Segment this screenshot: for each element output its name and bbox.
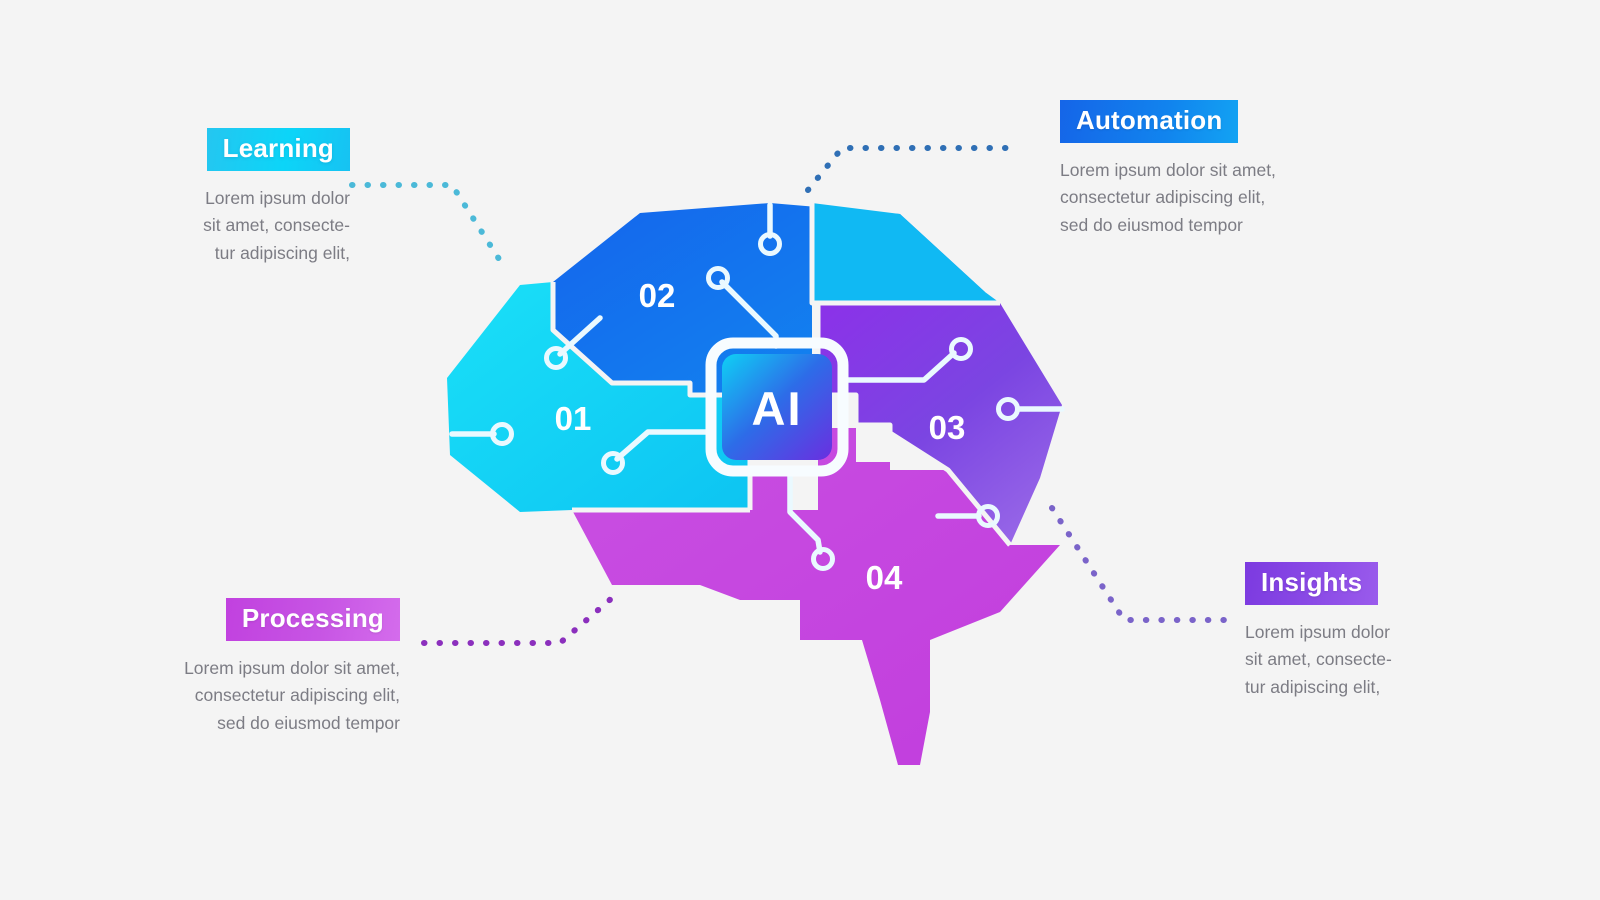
segment-number-02: 02 xyxy=(639,277,676,314)
connector-processing xyxy=(424,598,612,643)
info-block-learning[interactable]: Learning Lorem ipsum dolor sit amet, con… xyxy=(100,128,350,267)
badge-automation[interactable]: Automation xyxy=(1060,100,1238,143)
segment-number-04: 04 xyxy=(866,559,903,596)
description-automation: Lorem ipsum dolor sit amet, consectetur … xyxy=(1060,157,1390,238)
description-insights: Lorem ipsum dolor sit amet, consecte- tu… xyxy=(1245,619,1545,700)
info-block-processing[interactable]: Processing Lorem ipsum dolor sit amet, c… xyxy=(120,598,400,737)
badge-insights[interactable]: Insights xyxy=(1245,562,1378,605)
segment-number-01: 01 xyxy=(555,400,592,437)
brain-band-cyan-right xyxy=(812,203,1000,303)
ai-chip[interactable]: AI xyxy=(711,343,843,471)
connector-automation xyxy=(808,148,1014,190)
infographic-canvas: AI 02 01 03 04 Learning Lorem ipsum dolo… xyxy=(0,0,1600,900)
info-block-insights[interactable]: Insights Lorem ipsum dolor sit amet, con… xyxy=(1245,562,1545,701)
badge-processing[interactable]: Processing xyxy=(226,598,400,641)
info-block-automation[interactable]: Automation Lorem ipsum dolor sit amet, c… xyxy=(1060,100,1390,239)
badge-learning[interactable]: Learning xyxy=(207,128,350,171)
description-processing: Lorem ipsum dolor sit amet, consectetur … xyxy=(120,655,400,736)
connector-learning xyxy=(352,185,506,270)
segment-number-03: 03 xyxy=(929,409,966,446)
connector-insights xyxy=(1052,508,1236,620)
description-learning: Lorem ipsum dolor sit amet, consecte- tu… xyxy=(100,185,350,266)
ai-chip-label: AI xyxy=(752,382,803,435)
